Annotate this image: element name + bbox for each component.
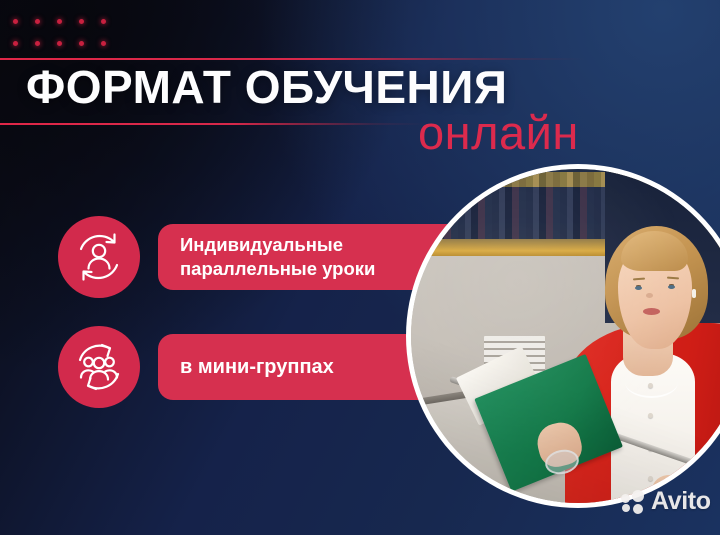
headline-title: ФОРМАТ ОБУЧЕНИЯ <box>26 62 507 112</box>
grid-dot <box>13 19 18 24</box>
feature-badge-label: в мини-группах <box>180 355 334 379</box>
avito-wordmark: Avito <box>651 489 711 514</box>
photo-circle-ring <box>406 164 720 508</box>
person-refresh-icon <box>58 216 140 298</box>
grid-dot <box>79 19 84 24</box>
grid-dot <box>57 41 62 46</box>
feature-row-minigroups: в мини-группах <box>58 326 440 408</box>
accent-rule-top <box>0 58 585 60</box>
grid-dot <box>35 41 40 46</box>
avito-dots-icon <box>621 490 647 514</box>
grid-dot <box>57 19 62 24</box>
accent-rule-bottom <box>0 123 425 125</box>
feature-badge-label: Индивидуальные параллельные уроки <box>180 233 375 281</box>
grid-dot <box>35 19 40 24</box>
grid-dot <box>13 41 18 46</box>
dot-grid-decoration <box>8 10 128 55</box>
avito-watermark: Avito <box>621 489 711 514</box>
grid-dot <box>101 41 106 46</box>
grid-dot <box>79 41 84 46</box>
instructor-photo <box>411 169 720 503</box>
grid-dot <box>101 19 106 24</box>
headline-subtitle: онлайн <box>418 108 579 158</box>
group-refresh-icon <box>58 326 140 408</box>
poster-canvas: ФОРМАТ ОБУЧЕНИЯ онлайн Индивидуальные па… <box>0 0 720 535</box>
feature-badge-minigroups: в мини-группах <box>158 334 440 400</box>
